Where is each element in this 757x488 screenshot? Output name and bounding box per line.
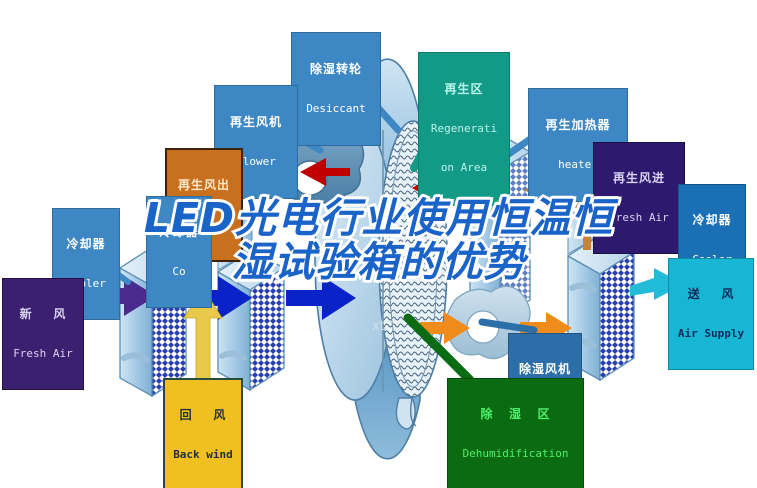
label-cn: 回 风 (167, 409, 239, 422)
label-en2: on Area (421, 162, 507, 174)
label-en: Fresh Air (5, 348, 81, 360)
label-cn: 除湿风机 (511, 363, 579, 376)
label-cn: 再生加热器 (531, 119, 625, 132)
label-fresh-air-process: 新 风 Fresh Air (2, 278, 84, 390)
label-dehumid-district: 除 湿 区 Dehumidification District (447, 378, 584, 488)
label-cn: 再生风出 (169, 179, 239, 192)
label-cooler-mid: 冷却器 Co (146, 196, 212, 308)
label-en: Regenerati (421, 123, 507, 135)
label-air-supply: 送 风 Air Supply (668, 258, 754, 370)
label-cn: 再生区 (421, 83, 507, 96)
label-cn: 新 风 (5, 308, 81, 321)
label-en: Fresh Air (596, 212, 682, 224)
label-cn: 除 湿 区 (450, 408, 581, 421)
label-cn: 再生风机 (217, 116, 295, 129)
label-en: Desiccant (294, 103, 378, 115)
label-fresh-air-regen: 再生风进 Fresh Air (593, 142, 685, 254)
label-cn: 冷却器 (149, 226, 209, 239)
label-back-wind: 回 风 Back wind (163, 378, 243, 488)
label-en: Air Supply (671, 328, 751, 340)
label-desiccant-rotor: 除湿转轮 Desiccant (291, 32, 381, 146)
diagram-canvas: xt 除湿转轮 Desiccant 再生风机 Blower 再生区 Regene… (0, 0, 757, 488)
label-cn: 再生风进 (596, 172, 682, 185)
label-cn: 送 风 (671, 288, 751, 301)
label-en: Back wind (167, 449, 239, 461)
label-cn: 冷却器 (681, 214, 743, 227)
label-en: Co (149, 266, 209, 278)
label-regeneration-area: 再生区 Regenerati on Area (418, 52, 510, 206)
label-cn: 除湿转轮 (294, 63, 378, 76)
label-en: Dehumidification (450, 448, 581, 460)
watermark: xt (372, 319, 385, 334)
label-cn: 冷却器 (55, 238, 117, 251)
